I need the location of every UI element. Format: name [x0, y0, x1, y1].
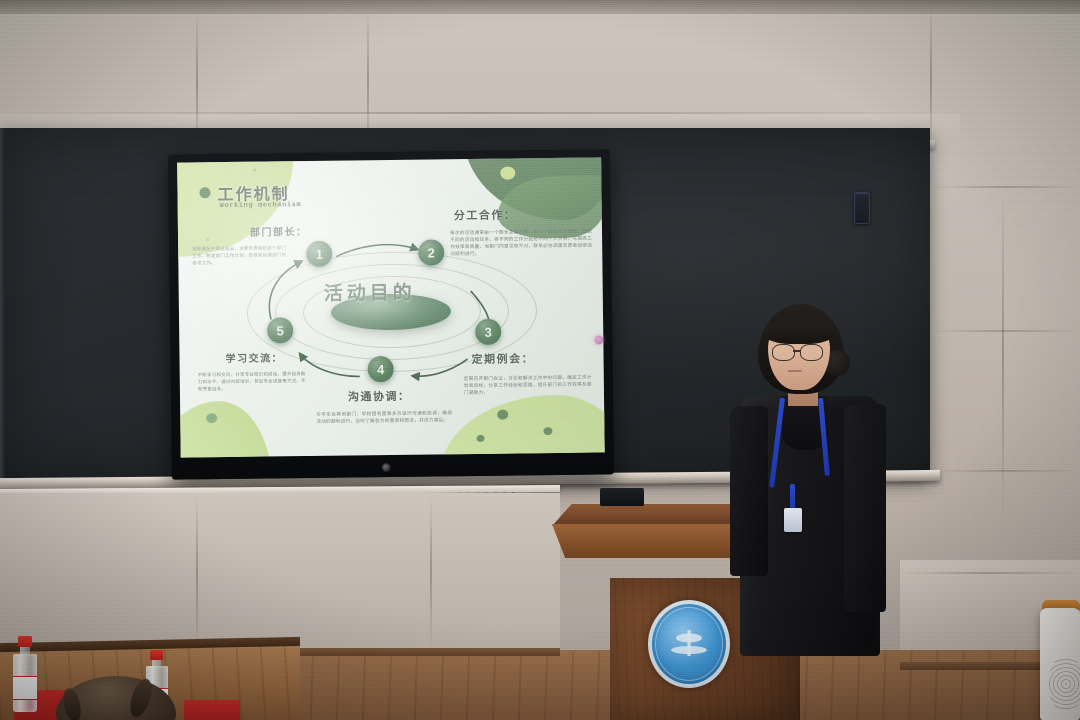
presentation-slide: 工作机制 Working mechanism 活动目的	[177, 157, 605, 457]
section-body-dept-minister: 按需要配齐两名部长，主要负责组织各个部门工作，制定部门工作计划，安排和协调部门内…	[192, 245, 286, 267]
presenter-glasses-left	[772, 344, 795, 361]
blackboard-left-edge	[0, 128, 5, 478]
lower-wall-panel	[0, 493, 560, 653]
lanyard-id-card	[784, 508, 802, 532]
air-purifier-mesh-icon	[1048, 656, 1080, 712]
section-heading-learning-exchange: 学习交流：	[225, 349, 283, 365]
flow-node-4[interactable]: 4	[368, 356, 394, 382]
board-mounted-device[interactable]	[854, 192, 870, 224]
slide-micro-dot	[206, 238, 209, 241]
presenter-arm-left	[730, 406, 768, 576]
slide-decor-dot	[476, 435, 484, 442]
smart-display[interactable]: 工作机制 Working mechanism 活动目的	[168, 149, 614, 479]
lecture-hall-photo: 工作机制 Working mechanism 活动目的	[0, 0, 1080, 720]
podium-device	[600, 488, 644, 506]
wall-panel-seam	[932, 186, 1080, 188]
presenter-glasses-bridge	[793, 350, 800, 352]
desk-mat	[184, 700, 240, 720]
ceiling-shadow	[0, 0, 1080, 14]
slide-subtitle: Working mechanism	[220, 201, 302, 210]
wall-panel-seam	[430, 498, 432, 648]
bottle-cap	[18, 636, 32, 647]
section-heading-division-of-labor: 分工合作：	[454, 206, 517, 223]
flow-node-3[interactable]: 3	[475, 319, 501, 345]
wall-panel-seam	[1002, 190, 1004, 520]
presenter-glasses-right	[800, 344, 823, 361]
slide-decor-dot	[497, 410, 508, 420]
flow-node-1[interactable]: 1	[306, 241, 332, 267]
slide-title-bullet-icon	[199, 187, 210, 198]
screen-edge-indicator	[594, 335, 603, 344]
podium-emblem	[648, 600, 730, 688]
slide-decor-blob-bottomleft	[177, 400, 271, 457]
section-body-division-of-labor: 每次的活动通常由一个部长主要负责，另一个部长作为辅助，根据不同的活动和任务，将不…	[450, 228, 592, 258]
wall-panel-seam	[932, 470, 1080, 472]
slide-decor-blob-bottomright	[440, 394, 605, 457]
slide-decor-dot	[206, 413, 217, 423]
presenter-arm-right	[844, 404, 886, 612]
flow-node-2[interactable]: 2	[418, 239, 444, 265]
section-heading-communication: 沟通协调：	[348, 388, 411, 405]
wall-panel-seam	[900, 572, 1080, 574]
bottle-neck	[20, 647, 30, 654]
wall-panel-seam	[932, 330, 1080, 332]
section-body-communication: 与学生会其他部门、学校团有团等多方进行沟通和协调，确保活动的顺利进行，及时了解各…	[316, 409, 452, 425]
water-bottle-desk-left[interactable]	[12, 636, 38, 712]
air-purifier[interactable]	[1040, 608, 1080, 720]
bottle-cap	[150, 650, 163, 660]
emblem-inner-ring	[655, 607, 723, 681]
display-power-button[interactable]	[382, 463, 391, 472]
section-body-learning-exchange: 不断学习和交流，分享专业知识和经验，提升自身能力和水平，通过内部培训、参加专业讲…	[198, 371, 306, 393]
bottle-label	[13, 676, 37, 700]
lanyard-strap-lower	[790, 484, 795, 510]
section-heading-regular-meetings: 定期例会：	[471, 350, 534, 367]
slide-decor-dot	[543, 427, 552, 435]
slide-center-label: 活动目的	[324, 278, 416, 306]
slide-micro-dot	[253, 169, 256, 172]
presenter	[720, 300, 920, 720]
section-heading-dept-minister: 部门部长：	[250, 223, 308, 239]
section-body-regular-meetings: 定期召开部门会议，讨论和解决工作中的问题，确定工作计划和目标，分享工作经验和思路…	[464, 374, 592, 397]
presenter-mouth	[788, 370, 802, 372]
wall-panel-seam	[196, 496, 198, 651]
